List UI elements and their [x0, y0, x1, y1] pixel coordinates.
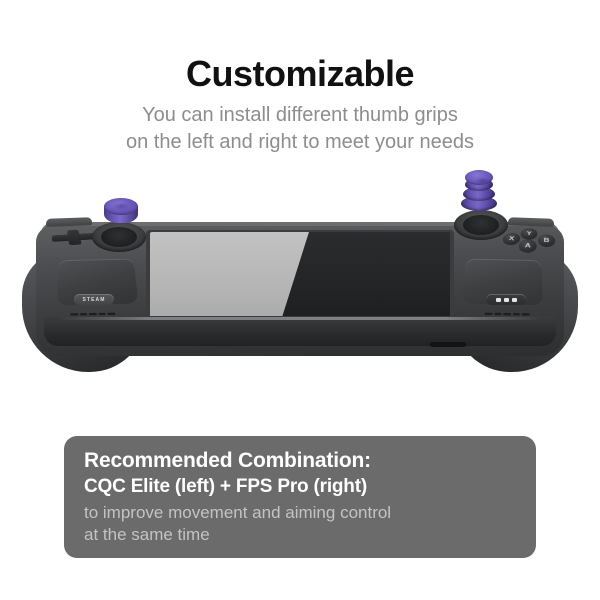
callout-body-line-2: at the same time — [84, 524, 518, 546]
callout-combination: CQC Elite (left) + FPS Pro (right) — [84, 474, 518, 499]
subtitle-line-1: You can install different thumb grips — [0, 102, 600, 129]
header-block: Customizable You can install different t… — [0, 52, 600, 156]
device-front-face — [44, 316, 556, 346]
recommended-combination-callout: Recommended Combination: CQC Elite (left… — [64, 436, 536, 558]
right-thumb-grip-fps-pro[interactable] — [461, 166, 497, 218]
page-title: Customizable — [0, 52, 600, 96]
callout-body-line-1: to improve movement and aiming control — [84, 502, 518, 524]
cqc-grip-top — [104, 198, 138, 215]
device-illustration: Y X B A STEAM — [0, 178, 600, 408]
fps-grip-cap-dimple — [476, 178, 490, 184]
callout-body: to improve movement and aiming control a… — [84, 502, 518, 546]
product-infographic: Customizable You can install different t… — [0, 0, 600, 600]
right-thumbstick-well — [463, 215, 499, 235]
face-button-a[interactable]: A — [518, 239, 537, 252]
device-vent-slot — [430, 342, 466, 347]
steam-button-label: STEAM — [83, 297, 106, 303]
cqc-grip-dimple — [113, 203, 129, 210]
steam-button[interactable]: STEAM — [74, 294, 114, 305]
left-thumb-grip-cqc-elite[interactable] — [104, 198, 138, 228]
dpad-vertical-arm — [67, 230, 82, 246]
right-shoulder-bumper[interactable] — [508, 217, 554, 227]
face-button-y[interactable]: Y — [520, 228, 538, 239]
fps-grip-cap — [465, 170, 493, 185]
page-subtitle: You can install different thumb grips on… — [0, 102, 600, 156]
face-button-b[interactable]: B — [538, 234, 556, 246]
face-button-cluster: Y X B A — [499, 227, 556, 252]
face-button-x[interactable]: X — [502, 233, 521, 245]
subtitle-line-2: on the left and right to meet your needs — [0, 129, 600, 156]
left-shoulder-bumper[interactable] — [46, 217, 92, 227]
left-thumbstick-well — [101, 227, 137, 247]
callout-heading: Recommended Combination: — [84, 448, 518, 474]
quick-access-button[interactable] — [486, 294, 526, 305]
three-dots-icon — [496, 298, 517, 302]
device-front-highlight — [60, 317, 540, 320]
